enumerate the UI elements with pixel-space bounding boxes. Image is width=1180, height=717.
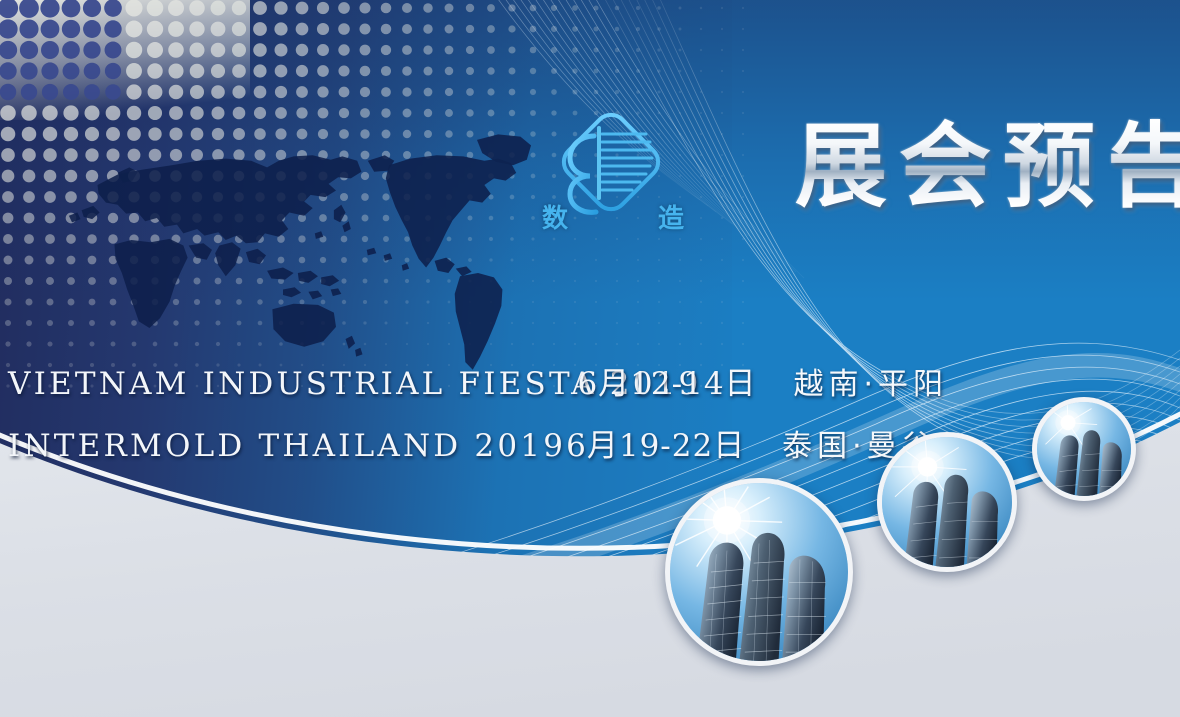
page-title: 展会预告 — [795, 118, 1180, 217]
building-photo-large — [665, 478, 853, 666]
event-name: VIETNAM INDUSTRIAL FIESTA 2019 — [8, 366, 577, 402]
event-row-2: INTERMOLD THAILAND 2019 6月19-22日 泰国·曼谷 — [8, 420, 948, 482]
event-row-1: VIETNAM INDUSTRIAL FIESTA 2019 6月12-14日 … — [8, 358, 948, 420]
event-name: INTERMOLD THAILAND 2019 — [8, 428, 566, 464]
event-list: VIETNAM INDUSTRIAL FIESTA 2019 6月12-14日 … — [8, 358, 948, 482]
exhibition-announcement-poster: 数 造 展会预告 VIETNAM INDUSTRIAL FIESTA 2019 … — [0, 0, 1180, 717]
event-location: 越南·平阳 — [767, 359, 948, 403]
brand-logo: 数 造 — [536, 110, 686, 245]
world-map-silhouette — [18, 108, 548, 383]
event-date: 6月19-22日 — [566, 420, 756, 465]
event-date: 6月12-14日 — [577, 358, 767, 403]
logo-word-right: 造 — [658, 198, 684, 235]
logo-word-left: 数 — [542, 198, 568, 235]
building-photo-small — [1032, 397, 1136, 501]
building-photo-medium — [877, 432, 1017, 572]
